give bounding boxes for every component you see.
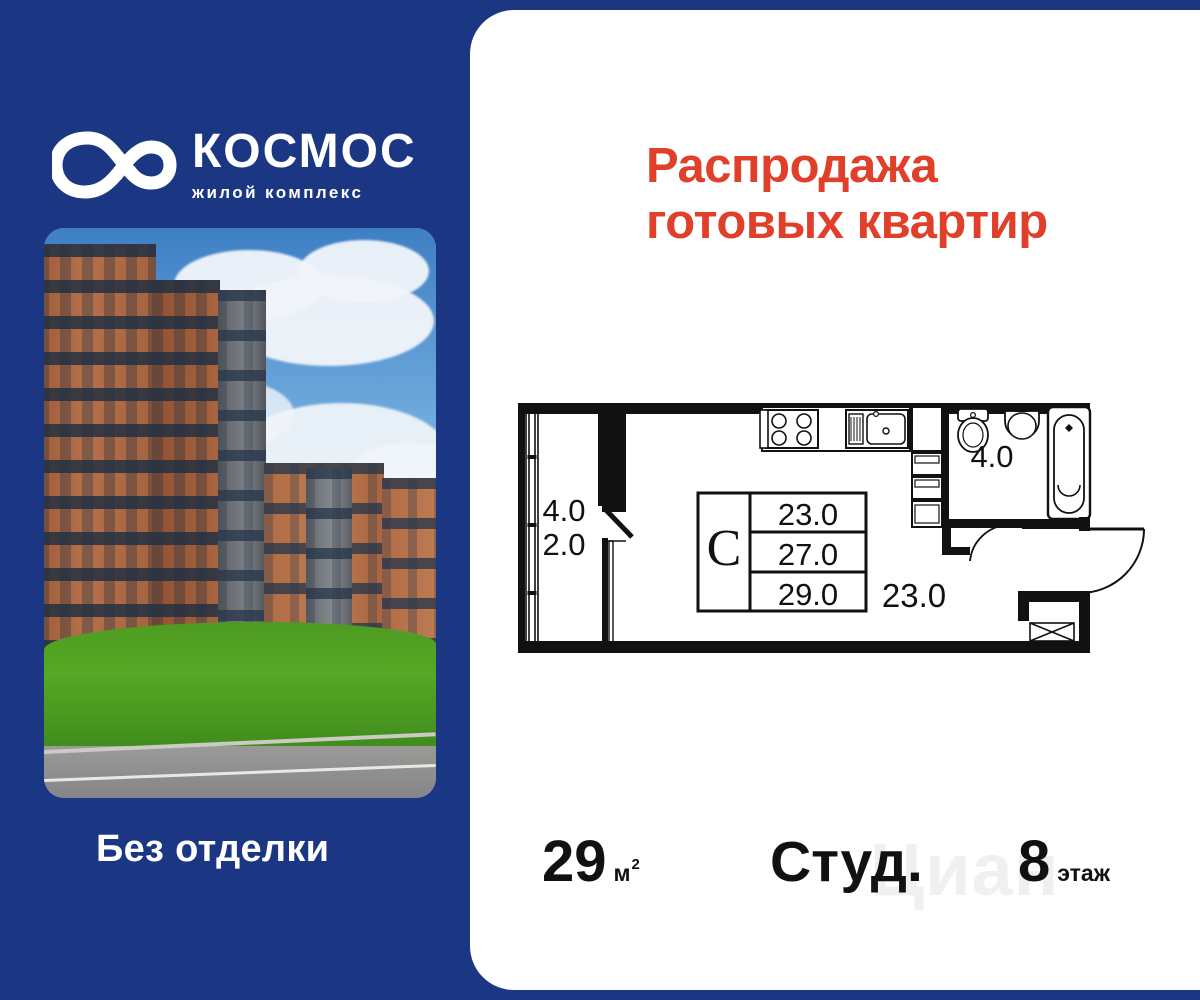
brand-tagline: жилой комплекс: [192, 182, 417, 204]
area-value: 29: [542, 833, 607, 891]
promo-headline: Распродажа готовых квартир: [646, 138, 1166, 250]
promo-headline-line2: готовых квартир: [646, 194, 1166, 250]
balcony-area-label: 4.0: [542, 493, 585, 528]
floor-plan: 4.0: [510, 395, 1150, 675]
brand-name: КОСМОС: [192, 126, 417, 178]
area-unit-exponent: 2: [632, 856, 640, 873]
balcony-glazing: [526, 411, 538, 645]
area-unit: м: [614, 860, 631, 887]
bathtub-icon: [1048, 407, 1090, 519]
road-marking: [44, 764, 436, 782]
advertisement-card: КОСМОС жилой комплекс: [0, 0, 1200, 1000]
lawn: [44, 622, 436, 752]
rooms-label: Студ.: [770, 833, 923, 891]
finish-caption: Без отделки: [96, 828, 329, 871]
legend-value-0: 23.0: [778, 497, 838, 532]
area-stat: 29 м 2: [542, 833, 639, 891]
cloud-shape: [299, 240, 429, 302]
infinity-icon: [52, 126, 178, 204]
floor-value: 8: [1018, 833, 1050, 891]
building-photo: [44, 228, 436, 798]
balcony-reduced-area-label: 2.0: [542, 527, 585, 562]
brand-logo: КОСМОС жилой комплекс: [52, 122, 452, 214]
entry-door-icon: [1080, 529, 1144, 593]
rooms-stat: Студ.: [770, 833, 923, 891]
floor-plan-drawing: 4.0: [510, 395, 1150, 675]
stove-icon: [760, 410, 818, 448]
plan-legend: C 23.0 27.0 29.0: [698, 493, 866, 612]
info-card: Распродажа готовых квартир: [470, 10, 1200, 990]
legend-type-code: C: [707, 520, 742, 577]
floor-stat: 8 этаж: [1018, 833, 1110, 891]
living-room-area-label: 23.0: [882, 577, 946, 614]
legend-value-2: 29.0: [778, 577, 838, 612]
legend-value-1: 27.0: [778, 537, 838, 572]
promo-headline-line1: Распродажа: [646, 138, 1166, 194]
road: [44, 746, 436, 798]
entrance-zone: [1018, 517, 1144, 653]
floor-label: этаж: [1057, 860, 1110, 887]
riser-shaft-icon: [1030, 623, 1074, 641]
summary-row: Циан 29 м 2 Студ. 8 этаж: [470, 815, 1200, 915]
cabinet-icon: [912, 407, 942, 527]
bathroom-zone: 4.0: [942, 403, 1090, 561]
bathroom-area-label: 4.0: [970, 439, 1013, 474]
balcony-door-icon: [602, 506, 632, 643]
left-brand-panel: КОСМОС жилой комплекс: [0, 0, 472, 1000]
brand-text: КОСМОС жилой комплекс: [192, 126, 417, 204]
sink-icon: [846, 410, 908, 448]
